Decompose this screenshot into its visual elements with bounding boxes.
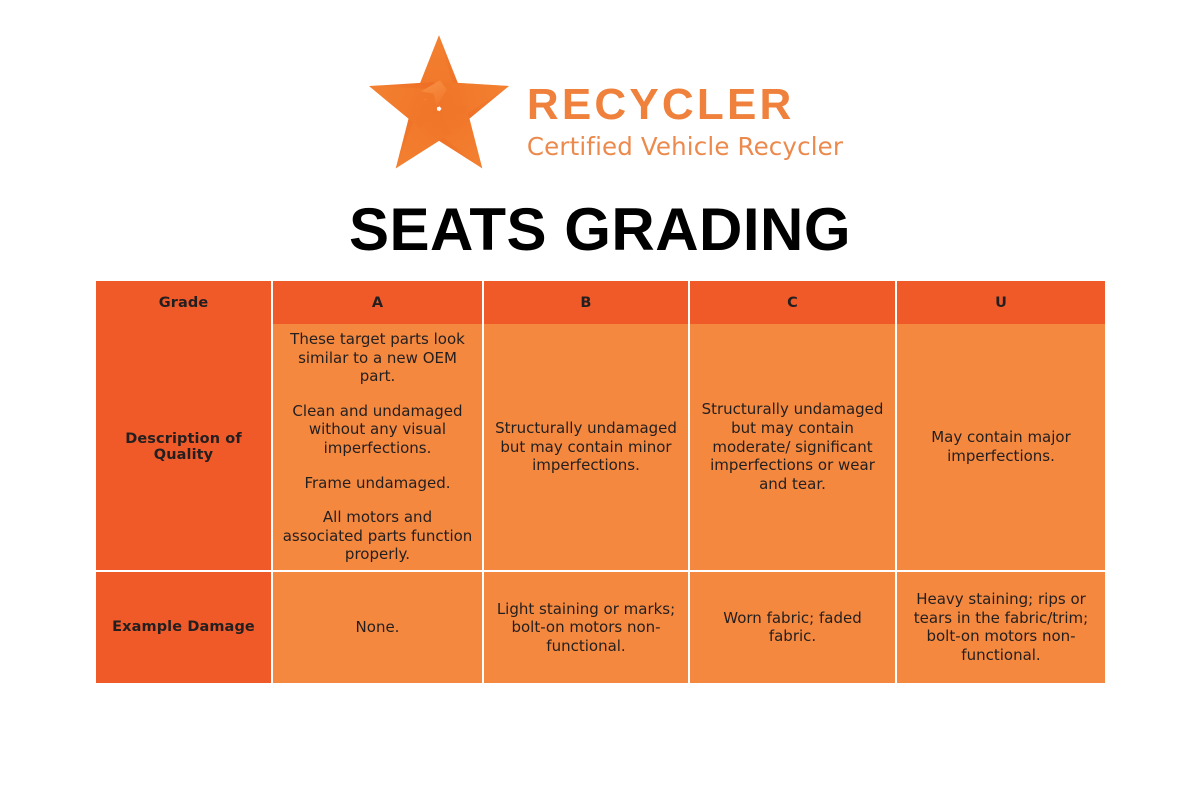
brand-name: RECYCLER (527, 83, 843, 128)
recycle-star-icon (357, 32, 521, 180)
column-header-b: B (484, 281, 690, 324)
cell-paragraph: Structurally undamaged but may contain m… (493, 419, 679, 475)
cell-example-u: Heavy staining; rips or tears in the fab… (897, 572, 1105, 683)
seats-grading-table: Grade A B C U Description of Quality The… (96, 281, 1105, 683)
row-label-example-damage: Example Damage (96, 572, 273, 683)
table-row: Example Damage None. Light staining or m… (96, 572, 1105, 683)
column-header-c: C (690, 281, 897, 324)
cell-description-u: May contain major imperfections. (897, 324, 1105, 572)
cell-paragraph: Frame undamaged. (282, 474, 473, 493)
row-label-description-of-quality: Description of Quality (96, 324, 273, 572)
cell-example-c: Worn fabric; faded fabric. (690, 572, 897, 683)
column-header-u: U (897, 281, 1105, 324)
brand-wordmark: RECYCLER Certified Vehicle Recycler (527, 49, 843, 163)
cell-example-b: Light staining or marks; bolt-on motors … (484, 572, 690, 683)
cell-description-c: Structurally undamaged but may contain m… (690, 324, 897, 572)
column-header-grade: Grade (96, 281, 273, 324)
cell-paragraph: These target parts look similar to a new… (282, 330, 473, 386)
brand-logo-block: RECYCLER Certified Vehicle Recycler (0, 28, 1200, 183)
table-header-row: Grade A B C U (96, 281, 1105, 324)
cell-description-a: These target parts look similar to a new… (273, 324, 484, 572)
table-row: Description of Quality These target part… (96, 324, 1105, 572)
page-title: SEATS GRADING (0, 197, 1200, 263)
brand-logo-row: RECYCLER Certified Vehicle Recycler (357, 32, 843, 180)
cell-paragraph: May contain major imperfections. (906, 428, 1096, 465)
brand-tagline: Certified Vehicle Recycler (527, 132, 843, 163)
cell-paragraph: None. (282, 618, 473, 637)
cell-paragraph: Clean and undamaged without any visual i… (282, 402, 473, 458)
cell-example-a: None. (273, 572, 484, 683)
cell-paragraph: Light staining or marks; bolt-on motors … (493, 600, 679, 656)
cell-paragraph: Structurally undamaged but may contain m… (699, 400, 886, 493)
cell-paragraph: Worn fabric; faded fabric. (699, 609, 886, 646)
column-header-a: A (273, 281, 484, 324)
cell-description-b: Structurally undamaged but may contain m… (484, 324, 690, 572)
cell-paragraph: All motors and associated parts function… (282, 508, 473, 564)
cell-paragraph: Heavy staining; rips or tears in the fab… (906, 590, 1096, 664)
